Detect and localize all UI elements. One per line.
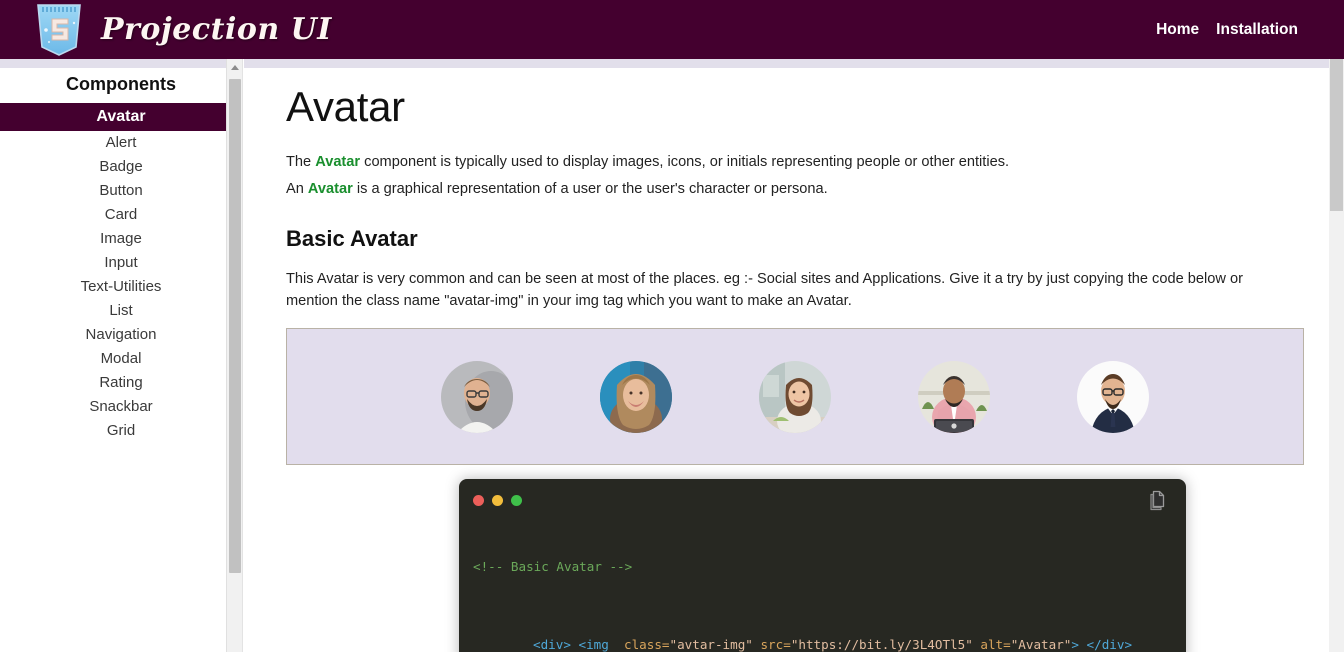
sidebar-item-button[interactable]: Button	[0, 179, 242, 203]
content-top-strip	[244, 59, 1329, 68]
avatar-image-2	[600, 361, 672, 433]
desc-text-b: in your img tag which you want to make a…	[523, 293, 851, 309]
intro2-text-a: An	[286, 181, 308, 197]
intro-text-b: component is typically used to display i…	[360, 154, 1009, 170]
maximize-dot-icon[interactable]	[511, 495, 522, 506]
brand-title: Projection UI	[101, 12, 332, 47]
close-dot-icon[interactable]	[473, 495, 484, 506]
code-snippet-window: <!-- Basic Avatar --> <div> <img class="…	[459, 479, 1186, 652]
code-1-v3: "Avatar"	[1011, 637, 1072, 652]
sidebar-scrollbar-thumb[interactable]	[229, 79, 241, 573]
intro-line-1: The Avatar component is typically used t…	[286, 152, 1288, 173]
code-1-close: > </div>	[1071, 637, 1132, 652]
code-1-v2: "https://bit.ly/3L4OTl5"	[791, 637, 973, 652]
sidebar-heading: Components	[0, 68, 242, 103]
nav-link-home[interactable]: Home	[1156, 21, 1199, 39]
copy-document-icon	[1148, 490, 1167, 511]
basic-avatar-description: This Avatar is very common and can be se…	[286, 268, 1286, 312]
intro-text-a: The	[286, 154, 315, 170]
window-control-dots	[473, 495, 522, 506]
code-comment-text: <!-- Basic Avatar -->	[473, 559, 632, 574]
header-nav: Home Installation	[1156, 21, 1298, 39]
intro-highlight-avatar: Avatar	[315, 154, 360, 170]
code-body: <!-- Basic Avatar --> <div> <img class="…	[459, 521, 1186, 652]
avatar-image-4	[918, 361, 990, 433]
sidebar-item-grid[interactable]: Grid	[0, 419, 242, 443]
avatar-image-1	[441, 361, 513, 433]
page-body: Components Avatar Alert Badge Button Car…	[0, 59, 1344, 652]
code-1-attr1: class=	[616, 637, 669, 652]
page-title: Avatar	[286, 84, 1288, 130]
avatar-image-3	[759, 361, 831, 433]
sidebar-item-list[interactable]: List	[0, 299, 242, 323]
avatar-2[interactable]	[600, 361, 672, 433]
components-sidebar: Components Avatar Alert Badge Button Car…	[0, 59, 243, 652]
avatar-3[interactable]	[759, 361, 831, 433]
page-scrollbar-thumb[interactable]	[1330, 59, 1343, 211]
code-line-1: <div> <img class="avtar-img" src="https:…	[473, 637, 1186, 652]
intro-line-2: An Avatar is a graphical representation …	[286, 179, 1288, 200]
code-1-v1: "avtar-img"	[669, 637, 752, 652]
page-scrollbar[interactable]	[1329, 59, 1344, 652]
top-header: Projection UI Home Installation	[0, 0, 1344, 59]
code-comment: <!-- Basic Avatar -->	[473, 559, 1186, 575]
section-title-basic-avatar: Basic Avatar	[286, 226, 1288, 252]
code-1-open: <div> <img	[533, 637, 616, 652]
nav-link-installation[interactable]: Installation	[1216, 21, 1298, 39]
avatar-5[interactable]	[1077, 361, 1149, 433]
avatar-image-5	[1077, 361, 1149, 433]
main-content: Avatar The Avatar component is typically…	[244, 59, 1329, 652]
brand-logo[interactable]	[31, 2, 87, 58]
sidebar-item-input[interactable]: Input	[0, 251, 242, 275]
sidebar-item-text-utilities[interactable]: Text-Utilities	[0, 275, 242, 299]
intro2-text-b: is a graphical representation of a user …	[353, 181, 828, 197]
sidebar-item-snackbar[interactable]: Snackbar	[0, 395, 242, 419]
sidebar-item-card[interactable]: Card	[0, 203, 242, 227]
copy-code-button[interactable]	[1144, 487, 1170, 513]
intro2-highlight-avatar: Avatar	[308, 181, 353, 197]
avatar-1[interactable]	[441, 361, 513, 433]
code-1-attr3: alt=	[973, 637, 1011, 652]
sidebar-item-image[interactable]: Image	[0, 227, 242, 251]
sidebar-top-strip	[0, 59, 242, 68]
avatar-4[interactable]	[918, 361, 990, 433]
sidebar-item-avatar[interactable]: Avatar	[0, 103, 242, 131]
avatar-demo-box	[286, 328, 1304, 465]
sidebar-item-badge[interactable]: Badge	[0, 155, 242, 179]
desc-highlight-classname: "avatar-img"	[444, 293, 523, 309]
sidebar-scrollbar[interactable]	[226, 59, 242, 652]
sidebar-item-navigation[interactable]: Navigation	[0, 323, 242, 347]
sidebar-item-rating[interactable]: Rating	[0, 371, 242, 395]
sidebar-item-alert[interactable]: Alert	[0, 131, 242, 155]
sidebar-item-modal[interactable]: Modal	[0, 347, 242, 371]
code-window-titlebar	[459, 479, 1186, 521]
code-1-attr2: src=	[753, 637, 791, 652]
css3-shield-icon	[34, 3, 84, 57]
scroll-up-arrow-icon[interactable]	[227, 59, 243, 76]
minimize-dot-icon[interactable]	[492, 495, 503, 506]
